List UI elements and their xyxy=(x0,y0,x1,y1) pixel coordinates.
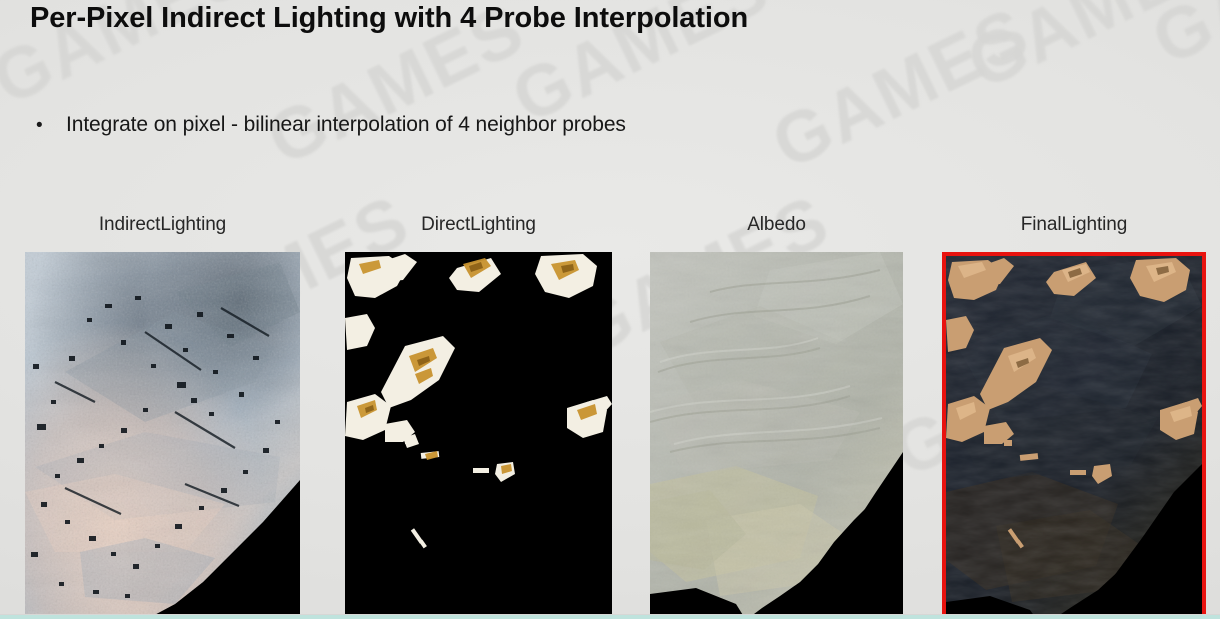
render-panel-indirect-lighting: IndirectLighting xyxy=(25,252,300,619)
final-lighting-render xyxy=(946,256,1202,619)
panel-caption-albedo: Albedo xyxy=(650,214,903,236)
panel-caption-final-lighting: FinalLighting xyxy=(942,214,1206,236)
bullet-item: • Integrate on pixel - bilinear interpol… xyxy=(36,113,626,137)
bullet-text: Integrate on pixel - bilinear interpolat… xyxy=(66,113,626,137)
render-panel-final-lighting: FinalLighting xyxy=(942,252,1206,619)
indirect-lighting-render xyxy=(25,252,300,619)
render-panel-albedo: Albedo xyxy=(650,252,903,619)
watermark-text: GAMES xyxy=(955,0,1220,106)
render-image-indirect-lighting xyxy=(25,252,300,619)
render-image-albedo xyxy=(650,252,903,619)
slide-title: Per-Pixel Indirect Lighting with 4 Probe… xyxy=(30,2,748,35)
bullet-marker-icon: • xyxy=(36,116,66,135)
direct-lighting-render xyxy=(345,252,612,619)
albedo-render xyxy=(650,252,903,619)
panel-caption-direct-lighting: DirectLighting xyxy=(345,214,612,236)
panel-caption-indirect-lighting: IndirectLighting xyxy=(25,214,300,236)
bottom-accent-strip xyxy=(0,615,1220,619)
render-image-final-lighting xyxy=(942,252,1206,619)
slide-canvas: GAMESGAMESGAMESGAMESGAMESGAMESGAMESGAMES… xyxy=(0,0,1220,619)
render-panel-direct-lighting: DirectLighting xyxy=(345,252,612,619)
render-image-direct-lighting xyxy=(345,252,612,619)
watermark-text: GAMES xyxy=(760,0,1042,186)
watermark-text: GAMES xyxy=(1140,0,1220,82)
